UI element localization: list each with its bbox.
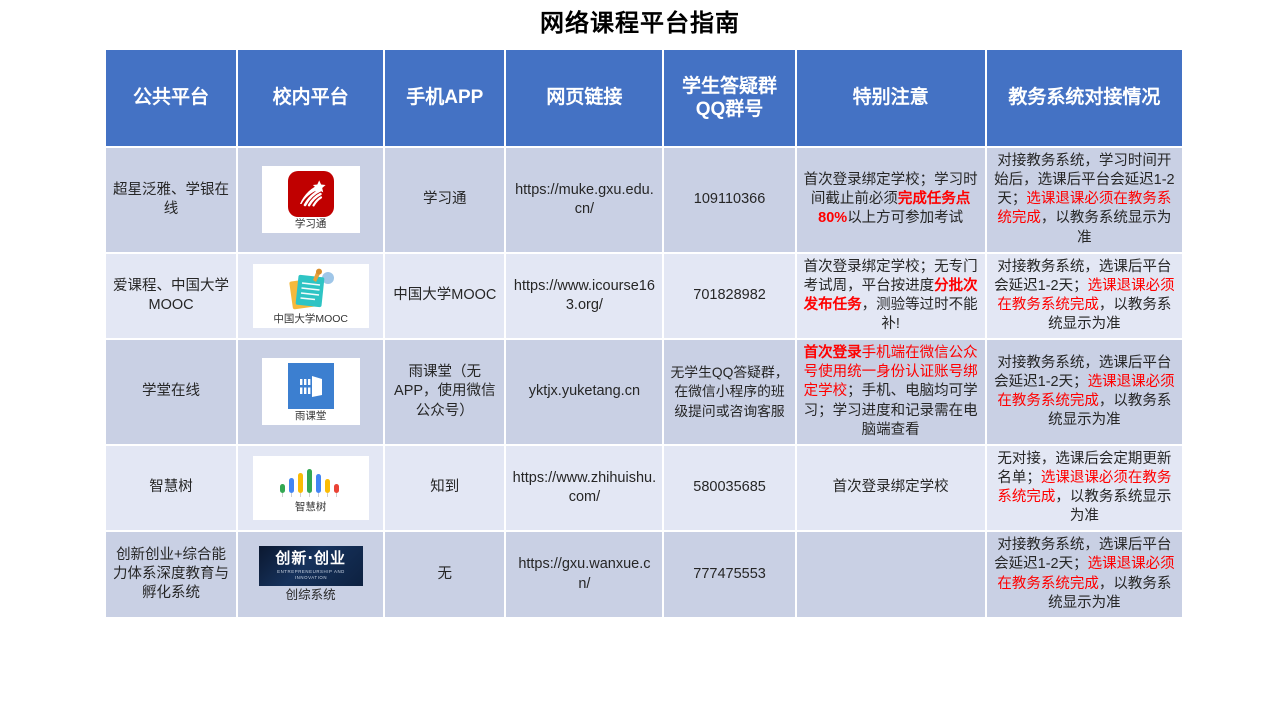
cell-academic-system: 对接教务系统，选课后平台会延迟1-2天；选课退课必须在教务系统完成，以教务系统显…	[987, 340, 1182, 444]
cell-campus-logo: 学习通	[238, 148, 383, 252]
column-header-web-link: 网页链接	[506, 50, 662, 146]
logo-sub-text: ENTREPRENEURSHIP AND INNOVATION	[261, 569, 360, 581]
cell-academic-system: 对接教务系统，选课后平台会延迟1-2天；选课退课必须在教务系统完成，以教务系统显…	[987, 254, 1182, 339]
cell-mobile-app: 中国大学MOOC	[385, 254, 504, 339]
logo-main-text: 创新·创业	[275, 551, 346, 566]
cell-mobile-app: 学习通	[385, 148, 504, 252]
cell-special-notice: 首次登录手机端在微信公众号使用统一身份认证账号绑定学校；手机、电脑均可学习；学习…	[797, 340, 985, 444]
cell-qq-group: 777475553	[664, 532, 794, 617]
cell-qq-group: 701828982	[664, 254, 794, 339]
column-header-mobile-app: 手机APP	[385, 50, 504, 146]
cell-platform-name: 爱课程、中国大学MOOC	[106, 254, 236, 339]
logo-caption: 雨课堂	[295, 411, 327, 423]
cell-campus-logo: 创新·创业 ENTREPRENEURSHIP AND INNOVATION 创综…	[238, 532, 383, 617]
cell-special-notice: 首次登录绑定学校；学习时间截止前必须完成任务点80%以上方可参加考试	[797, 148, 985, 252]
column-header-qq-group: 学生答疑群QQ群号	[664, 50, 794, 146]
cell-academic-system: 对接教务系统，选课后平台会延迟1-2天；选课退课必须在教务系统完成，以教务系统显…	[987, 532, 1182, 617]
table-row: 智慧树	[106, 446, 1182, 531]
cell-qq-group: 109110366	[664, 148, 794, 252]
cell-campus-logo: 智慧树	[238, 446, 383, 531]
table-body: 超星泛雅、学银在线	[106, 148, 1182, 617]
table-row: 创新创业+综合能力体系深度教育与孵化系统 创新·创业 ENTREPRENEURS…	[106, 532, 1182, 617]
cell-mobile-app: 知到	[385, 446, 504, 531]
column-header-public-platform: 公共平台	[106, 50, 236, 146]
cell-web-link[interactable]: https://www.icourse163.org/	[506, 254, 662, 339]
logo-caption: 中国大学MOOC	[273, 314, 348, 326]
icourse-mooc-logo-icon: 中国大学MOOC	[253, 264, 369, 328]
cell-academic-system: 对接教务系统，学习时间开始后，选课后平台会延迟1-2天；选课退课必须在教务系统完…	[987, 148, 1182, 252]
table-row: 学堂在线	[106, 340, 1182, 444]
logo-caption: 学习通	[295, 219, 327, 231]
cell-special-notice: 首次登录绑定学校	[797, 446, 985, 531]
chuangxin-chuangye-logo-icon: 创新·创业 ENTREPRENEURSHIP AND INNOVATION 创综…	[259, 546, 363, 603]
cell-web-link[interactable]: yktjx.yuketang.cn	[506, 340, 662, 444]
chaoxing-logo-icon: 学习通	[262, 166, 360, 233]
cell-mobile-app: 雨课堂（无APP，使用微信公众号）	[385, 340, 504, 444]
page-title: 网络课程平台指南	[0, 0, 1280, 41]
cell-special-notice: 首次登录绑定学校；无专门考试周，平台按进度分批次发布任务，测验等过时不能补!	[797, 254, 985, 339]
column-header-academic-system: 教务系统对接情况	[987, 50, 1182, 146]
cell-platform-name: 超星泛雅、学银在线	[106, 148, 236, 252]
yuketang-logo-icon: 雨课堂	[262, 358, 360, 425]
cell-platform-name: 智慧树	[106, 446, 236, 531]
column-header-campus-platform: 校内平台	[238, 50, 383, 146]
cell-web-link[interactable]: https://gxu.wanxue.cn/	[506, 532, 662, 617]
cell-platform-name: 创新创业+综合能力体系深度教育与孵化系统	[106, 532, 236, 617]
cell-platform-name: 学堂在线	[106, 340, 236, 444]
cell-web-link[interactable]: https://muke.gxu.edu.cn/	[506, 148, 662, 252]
table-row: 超星泛雅、学银在线	[106, 148, 1182, 252]
cell-qq-group: 无学生QQ答疑群，在微信小程序的班级提问或咨询客服	[664, 340, 794, 444]
cell-web-link[interactable]: https://www.zhihuishu.com/	[506, 446, 662, 531]
cell-academic-system: 无对接，选课后会定期更新名单；选课退课必须在教务系统完成，以教务系统显示为准	[987, 446, 1182, 531]
cell-special-notice	[797, 532, 985, 617]
logo-caption: 创综系统	[286, 589, 336, 603]
table-row: 爱课程、中国大学MOOC	[106, 254, 1182, 339]
logo-caption: 智慧树	[295, 502, 327, 514]
cell-qq-group: 580035685	[664, 446, 794, 531]
course-platform-table: 公共平台 校内平台 手机APP 网页链接 学生答疑群QQ群号 特别注意 教务系统…	[104, 48, 1184, 619]
zhihuishu-logo-icon: 智慧树	[253, 456, 369, 520]
column-header-special-notice: 特别注意	[797, 50, 985, 146]
cell-mobile-app: 无	[385, 532, 504, 617]
cell-campus-logo: 雨课堂	[238, 340, 383, 444]
table-header-row: 公共平台 校内平台 手机APP 网页链接 学生答疑群QQ群号 特别注意 教务系统…	[106, 50, 1182, 146]
cell-campus-logo: 中国大学MOOC	[238, 254, 383, 339]
